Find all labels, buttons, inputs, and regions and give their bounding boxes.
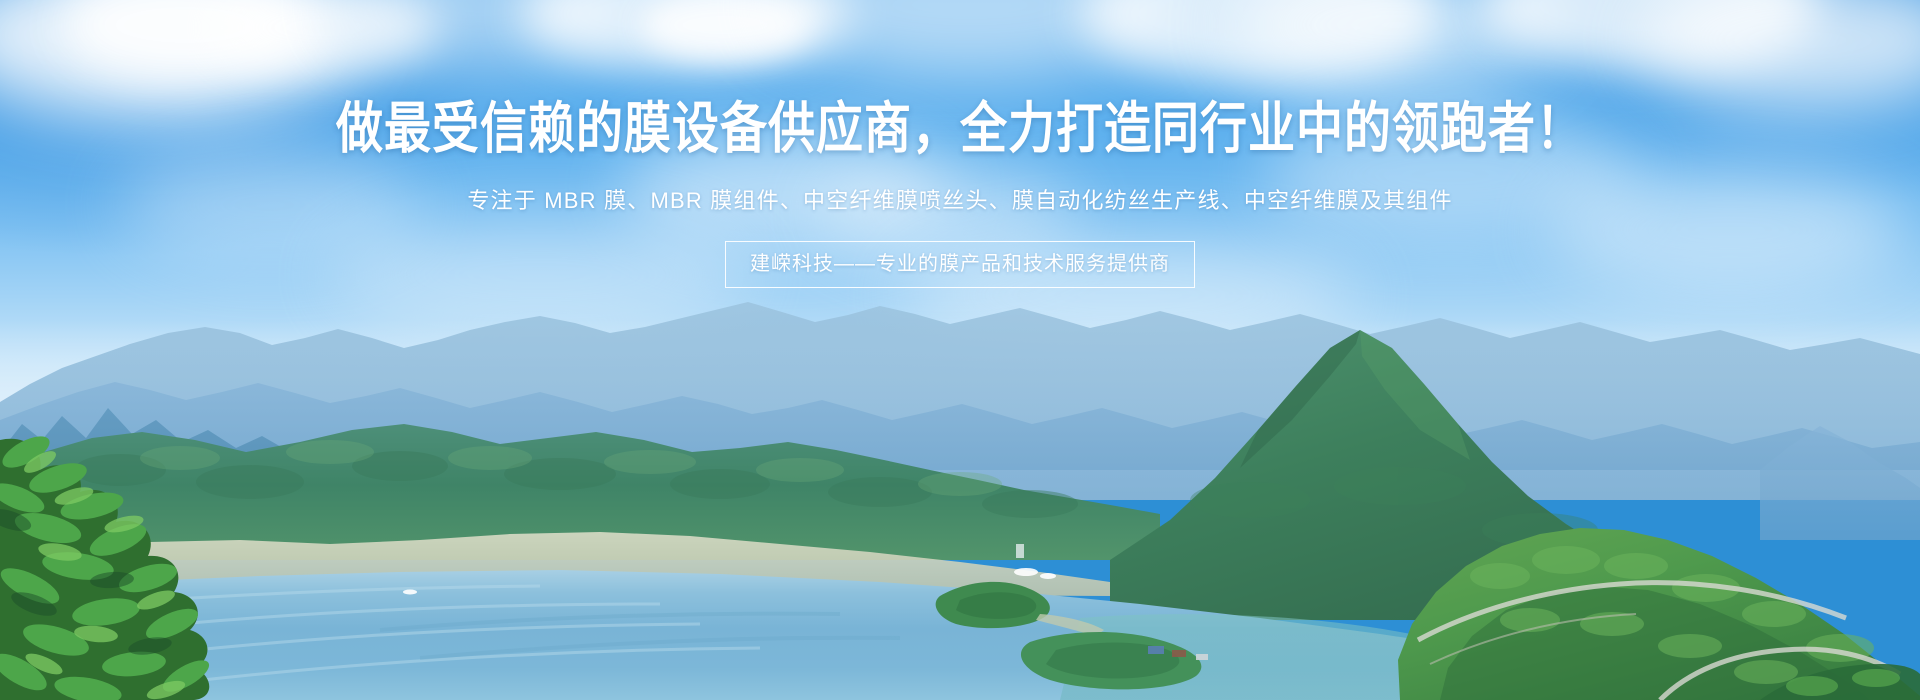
hero-banner: 做最受信赖的膜设备供应商，全力打造同行业中的领跑者！ 专注于 MBR 膜、MBR…: [0, 0, 1920, 700]
landscape-scene: [0, 0, 1920, 700]
